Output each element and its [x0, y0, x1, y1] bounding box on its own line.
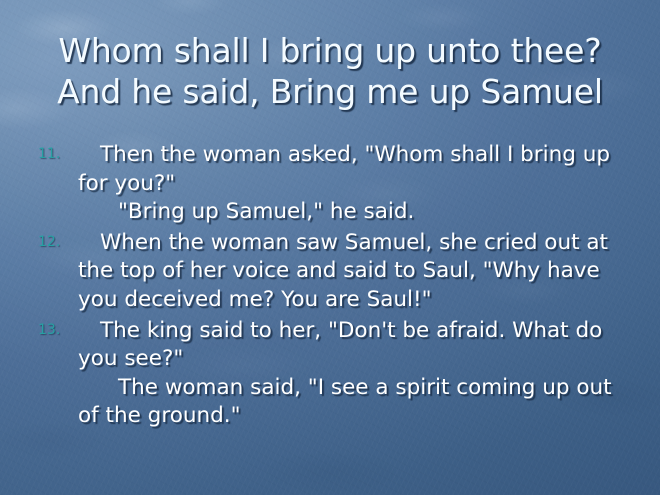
list-item-subtext: The woman said, "I see a spirit coming u… — [78, 374, 634, 431]
list-item-number: 12. — [38, 234, 72, 250]
list-item-subtext: "Bring up Samuel," he said. — [78, 198, 634, 227]
slide-content: Whom shall I bring up unto thee? And he … — [0, 0, 660, 495]
list-item: 12. When the woman saw Samuel, she cried… — [28, 229, 634, 315]
presentation-slide: Whom shall I bring up unto thee? And he … — [0, 0, 660, 495]
list-item-text: Then the woman asked, "Whom shall I brin… — [78, 141, 634, 198]
slide-title-line-1: Whom shall I bring up unto thee? — [0, 30, 660, 71]
slide-body-list: 11. Then the woman asked, "Whom shall I … — [28, 141, 634, 433]
list-item-number: 13. — [38, 322, 72, 338]
slide-title-line-2: And he said, Bring me up Samuel — [0, 71, 660, 112]
slide-title: Whom shall I bring up unto thee? And he … — [0, 30, 660, 112]
list-item: 11. Then the woman asked, "Whom shall I … — [28, 141, 634, 227]
list-item-number: 11. — [38, 146, 72, 162]
list-item-text: When the woman saw Samuel, she cried out… — [78, 229, 634, 315]
list-item-text: The king said to her, "Don't be afraid. … — [78, 317, 634, 374]
list-item: 13. The king said to her, "Don't be afra… — [28, 317, 634, 431]
